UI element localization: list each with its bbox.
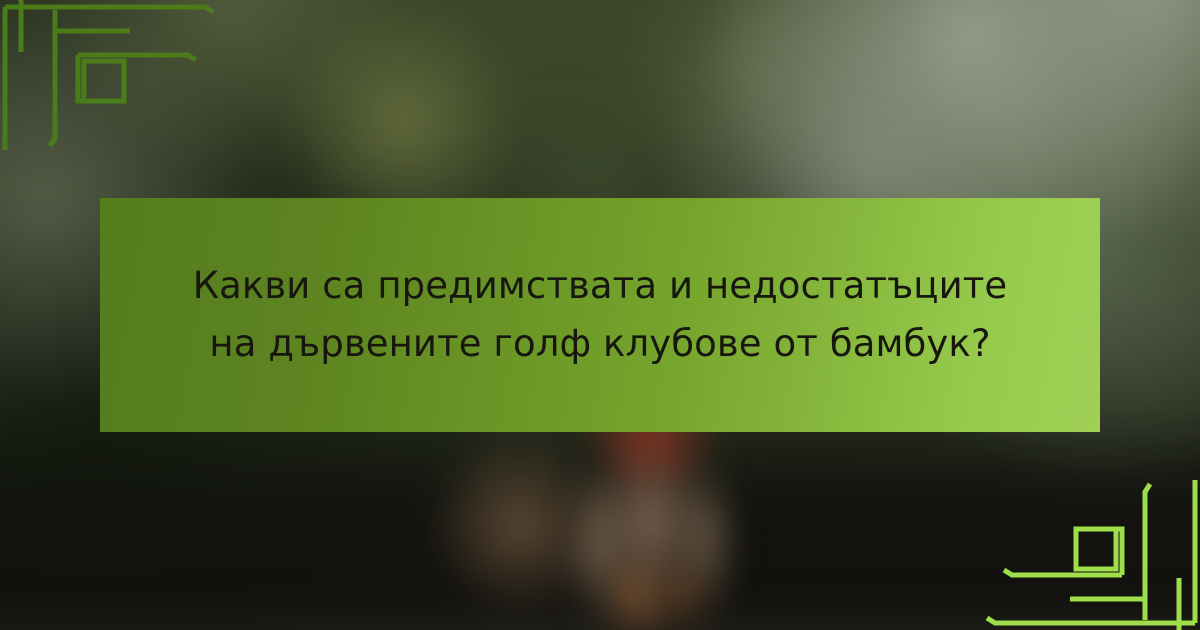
- headline-text: Какви са предимствата и недостатъците на…: [185, 257, 1015, 374]
- social-card: Какви са предимствата и недостатъците на…: [0, 0, 1200, 630]
- headline-banner: Какви са предимствата и недостатъците на…: [100, 198, 1100, 432]
